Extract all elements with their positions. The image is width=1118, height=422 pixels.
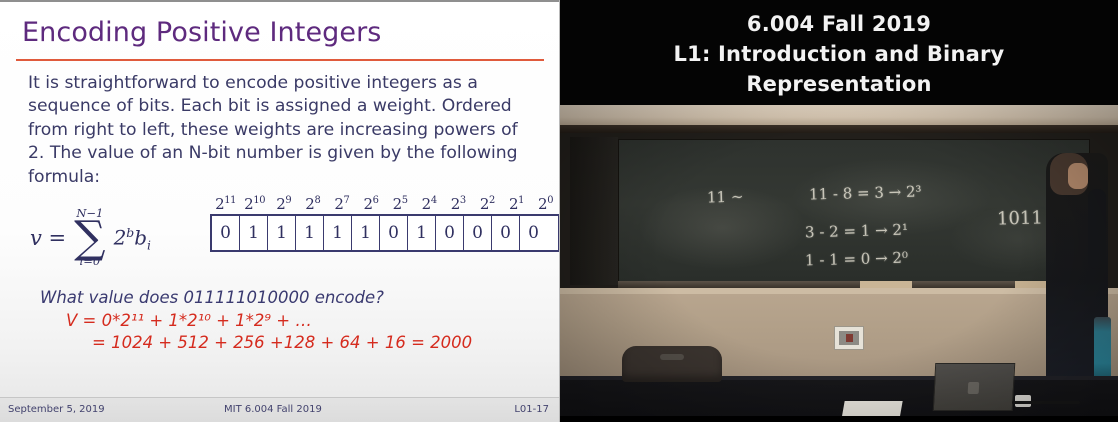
outlet-socket <box>846 334 853 342</box>
formula-term-base: 2 <box>114 226 127 250</box>
lecture-hall-video-frame: 11 ∼ 11 - 8 = 3 → 2³ 3 - 2 = 1 → 2¹ 1 - … <box>560 105 1118 422</box>
bit-cell-4: 1 <box>408 216 436 250</box>
formula-term: 2bbi <box>114 225 151 253</box>
video-title-line-2: L1: Introduction and Binary <box>674 39 1005 69</box>
cable <box>1012 401 1080 404</box>
bit-weight-10: 210 <box>240 196 269 213</box>
chalkboard-result: 1011 <box>997 207 1043 229</box>
bit-weight-11: 211 <box>211 196 240 213</box>
wall-outlet <box>834 326 864 350</box>
wall-ledge <box>560 288 1118 294</box>
chalkboard-line-1: 11 ∼ <box>707 188 744 207</box>
sigma-icon: ∑ <box>74 220 105 256</box>
bit-cell-9: 1 <box>268 216 296 250</box>
bit-cell-7: 1 <box>324 216 352 250</box>
slide-pane: Encoding Positive Integers It is straigh… <box>0 0 560 422</box>
bit-cell-3: 0 <box>436 216 464 250</box>
video-bottom-letterbox <box>560 416 1118 422</box>
bit-weight-5: 25 <box>386 196 415 213</box>
chalk-tray-highlight-left <box>860 281 912 288</box>
formula-term-factor-sub: i <box>147 238 151 253</box>
body-paragraph: It is straightforward to encode positive… <box>28 72 533 189</box>
bit-weight-9: 29 <box>269 196 298 213</box>
bit-weight-1: 21 <box>502 196 531 213</box>
video-title-line-1: 6.004 Fall 2019 <box>747 9 931 39</box>
bit-weight-0: 20 <box>531 196 560 213</box>
formula-term-factor: b <box>134 226 147 250</box>
bit-weight-2: 22 <box>473 196 502 213</box>
page-title: Encoding Positive Integers <box>22 17 381 48</box>
answer-line-2: = 1024 + 512 + 256 +128 + 64 + 16 = 2000 <box>66 332 472 354</box>
chair <box>622 346 722 382</box>
video-pane[interactable]: 6.004 Fall 2019 L1: Introduction and Bin… <box>560 0 1118 422</box>
bit-cell-6: 1 <box>352 216 380 250</box>
bit-weights-row: 21121029282726252423222120 <box>211 196 560 213</box>
water-bottle <box>1094 317 1111 383</box>
answer-line-1: V = 0*2¹¹ + 1*2¹⁰ + 1*2⁹ + … <box>66 311 312 330</box>
bit-weight-7: 27 <box>327 196 356 213</box>
bit-cell-8: 1 <box>296 216 324 250</box>
bit-weight-3: 23 <box>444 196 473 213</box>
chalkboard: 11 ∼ 11 - 8 = 3 → 2³ 3 - 2 = 1 → 2¹ 1 - … <box>618 139 1090 283</box>
chalkboard-left-panel <box>570 137 618 285</box>
slide-top-border <box>0 0 559 2</box>
video-title-line-3: Representation <box>746 69 931 99</box>
bit-cell-11: 0 <box>212 216 240 250</box>
bit-cell-1: 0 <box>492 216 520 250</box>
formula-and-bit-table: v = N−1 ∑ i=0 2bbi 211210292827262524232… <box>22 196 542 278</box>
sigma-lower-limit: i=0 <box>80 256 101 268</box>
title-divider <box>16 59 544 61</box>
bit-weight-4: 24 <box>415 196 444 213</box>
outlet-plate <box>839 331 859 345</box>
ceiling-strip <box>560 105 1118 125</box>
bit-table-wrapper: 21121029282726252423222120 011111010000 <box>210 196 560 252</box>
laptop <box>933 363 1016 411</box>
chalkboard-line-4: 1 - 1 = 0 → 2⁰ <box>805 249 908 270</box>
chalkboard-line-3: 3 - 2 = 1 → 2¹ <box>805 221 908 242</box>
slide-body-text: It is straightforward to encode positive… <box>28 72 533 189</box>
lecturer-face <box>1068 163 1088 189</box>
video-title-card: 6.004 Fall 2019 L1: Introduction and Bin… <box>560 0 1118 105</box>
lecturer-arm <box>1088 189 1106 269</box>
bit-cell-10: 1 <box>240 216 268 250</box>
formula-lhs: v = <box>30 226 66 250</box>
footer-course: MIT 6.004 Fall 2019 <box>224 404 322 415</box>
chalkboard-line-2: 11 - 8 = 3 → 2³ <box>809 183 922 204</box>
bit-cell-0: 0 <box>520 216 547 250</box>
summation-formula: v = N−1 ∑ i=0 2bbi <box>30 210 151 266</box>
footer-date: September 5, 2019 <box>8 404 105 415</box>
footer-page-number: L01-17 <box>514 404 549 415</box>
answer-text: V = 0*2¹¹ + 1*2¹⁰ + 1*2⁹ + … = 1024 + 51… <box>66 310 472 354</box>
lecture-video-stage: Encoding Positive Integers It is straigh… <box>0 0 1118 422</box>
bit-cell-5: 0 <box>380 216 408 250</box>
bit-table: 011111010000 <box>210 214 560 252</box>
bit-weight-6: 26 <box>356 196 385 213</box>
ceiling-shadow <box>560 125 1118 133</box>
bit-weight-8: 28 <box>298 196 327 213</box>
question-text: What value does 011111010000 encode? <box>40 288 384 307</box>
bit-cell-2: 0 <box>464 216 492 250</box>
sigma-stack: N−1 ∑ i=0 <box>74 208 105 267</box>
slide-footer: September 5, 2019 MIT 6.004 Fall 2019 L0… <box>0 397 559 422</box>
